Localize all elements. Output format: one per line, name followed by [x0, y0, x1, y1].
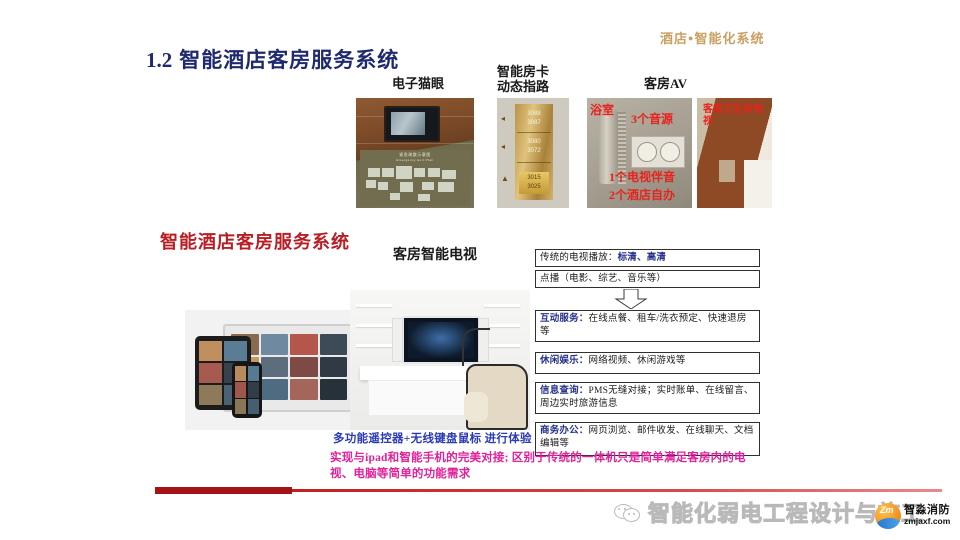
feature-label-entertainment: 休闲娱乐： — [540, 356, 589, 366]
logo-text-block: 智淼消防 zmjaxf.com — [904, 505, 950, 527]
living-room-photo — [350, 290, 530, 430]
scene-devices-and-room — [160, 290, 530, 430]
overlay-bathroom: 浴室 — [590, 101, 614, 118]
footer-rule-thick — [155, 487, 292, 494]
slide-canvas: 酒店●智能化系统 1.2智能酒店客房服务系统 电子猫眼 智能房卡 动态指路 客房… — [0, 0, 960, 540]
wechat-icon — [614, 502, 640, 522]
photo-electronic-peephole: 紧急疏散示意图 Emergency Exit Plan — [356, 98, 474, 208]
feature-label-business-office: 商务办公： — [540, 426, 589, 436]
section-title-smart-room-service: 智能酒店客房服务系统 — [160, 228, 350, 254]
phone-media-grid — [235, 366, 259, 414]
evacuation-plan: 紧急疏散示意图 Emergency Exit Plan — [360, 150, 470, 206]
room-number-5: 3025 — [519, 183, 549, 192]
logo-domain: zmjaxf.com — [904, 516, 950, 527]
feature-box-vod: 点播（电影、综艺、音乐等） — [535, 270, 760, 288]
room-number-3: 3072 — [519, 147, 549, 156]
caption-guestroom-av: 客房AV — [644, 76, 687, 91]
logo-mark-icon: Zm — [875, 503, 901, 529]
feature-body-vod: 点播（电影、综艺、音乐等） — [540, 274, 666, 284]
speaker-left-icon — [392, 318, 403, 362]
logo-company-name: 智淼消防 — [904, 505, 950, 516]
company-logo: Zm 智淼消防 zmjaxf.com — [875, 503, 950, 529]
caption-electronic-peephole: 电子猫眼 — [392, 76, 444, 91]
feature-body-entertainment: 网络视频、休闲游戏等 — [589, 356, 686, 366]
av-control-panel — [631, 136, 685, 168]
towel-icon — [744, 160, 772, 208]
header-brand-prefix: 酒店 — [660, 31, 688, 46]
header-brand-tag: 酒店●智能化系统 — [660, 28, 764, 47]
feature-box-interactive-service: 互动服务：在线点餐、租车/洗衣预定、快速退房等 — [535, 310, 760, 342]
note-remote-control: 多功能遥控器+无线键盘鼠标 进行体验 — [333, 430, 532, 446]
peephole-screen-icon — [384, 106, 440, 142]
feature-label-traditional-tv: 传统的电视播放： — [540, 253, 618, 263]
device-group — [185, 310, 355, 430]
av-knob-2-icon — [660, 142, 680, 162]
overlay-tv-audio: 1个电视伴音 — [609, 168, 675, 185]
caption-smart-keycard-line1: 智能房卡 — [497, 64, 549, 79]
page-title-text: 智能酒店客房服务系统 — [179, 48, 399, 72]
overlay-hotel-channels: 2个酒店自办 — [609, 186, 675, 203]
page-title: 1.2智能酒店客房服务系统 — [146, 44, 399, 74]
av-knob-1-icon — [637, 142, 657, 162]
arrow-left-icon: ◂ — [501, 114, 505, 123]
note-ipad-integration: 实现与ipad和智能手机的完美对接; 区别于传统的一体机只是简单满足客房内的电视… — [330, 450, 760, 482]
logo-mark-text: Zm — [880, 505, 894, 515]
arrow-left-icon-2: ◂ — [501, 142, 505, 151]
feature-box-entertainment: 休闲娱乐：网络视频、休闲游戏等 — [535, 352, 760, 374]
room-number-plate: ◂ 3088 3087 ◂ 3080 3072 ▲ 3015 3025 — [515, 104, 553, 200]
room-number-2: 3080 — [519, 138, 549, 147]
page-title-number: 1.2 — [146, 48, 172, 72]
evacuation-plan-subtitle: Emergency Exit Plan — [360, 158, 470, 162]
room-number-1: 3087 — [519, 119, 549, 128]
photo-guestroom-av-panel: 浴室 3个音源 1个电视伴音 2个酒店自办 — [587, 98, 692, 208]
caption-smart-keycard: 智能房卡 动态指路 — [497, 64, 549, 94]
footer-rule-thin — [292, 489, 942, 492]
smartphone-icon — [232, 362, 262, 418]
room-number-group-1: 3088 3087 — [519, 110, 549, 130]
room-number-4: 3015 — [519, 174, 549, 183]
floor-lamp-icon — [462, 328, 490, 366]
feature-box-traditional-tv: 传统的电视播放：标清、高清 — [535, 249, 760, 267]
header-brand-suffix: 智能化系统 — [694, 31, 764, 46]
room-number-0: 3088 — [519, 110, 549, 119]
photo-smart-keycard-sign: ◂ 3088 3087 ◂ 3080 3072 ▲ 3015 3025 — [497, 98, 569, 208]
room-number-group-2: 3080 3072 — [519, 138, 549, 158]
wall-plate-icon — [719, 160, 735, 182]
overlay-three-sources: 3个音源 — [631, 110, 673, 127]
overlay-bathroom-tv: 客房卫生间电视 — [703, 104, 763, 128]
down-arrow-icon — [612, 289, 650, 309]
feature-highlight-traditional-tv: 标清、高清 — [618, 253, 667, 263]
caption-smart-tv: 客房智能电视 — [393, 244, 477, 264]
feature-label-information: 信息查询： — [540, 386, 589, 396]
armchair-icon — [466, 364, 528, 430]
room-number-group-3: 3015 3025 — [519, 174, 549, 194]
caption-smart-keycard-line2: 动态指路 — [497, 79, 549, 94]
logo-wave-icon — [875, 516, 901, 529]
arrow-up-icon: ▲ — [501, 174, 509, 183]
photo-bathroom-tv: 客房卫生间电视 — [697, 98, 772, 208]
feature-box-information: 信息查询：PMS无缝对接；实时账单、在线留言、周边实时旅游信息 — [535, 382, 760, 414]
feature-label-interactive-service: 互动服务： — [540, 314, 589, 324]
